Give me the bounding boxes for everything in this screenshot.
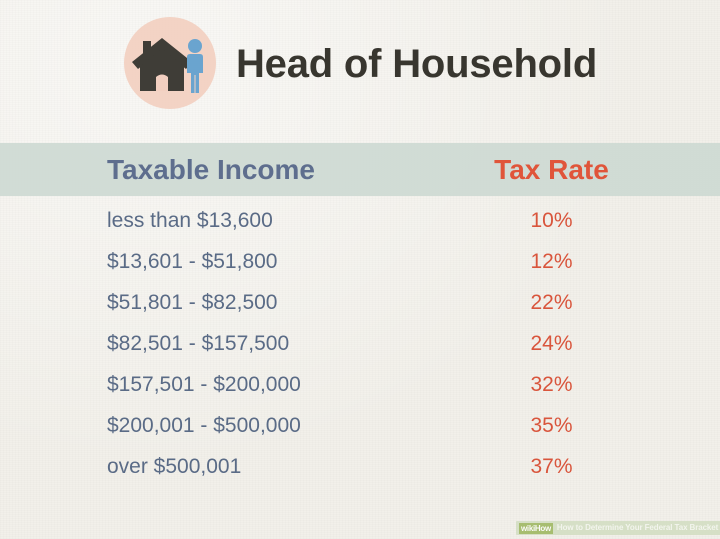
house-with-person-icon [124, 17, 216, 109]
cell-taxable-income: $200,001 - $500,000 [107, 405, 301, 446]
table-row: over $500,00137% [0, 446, 720, 487]
wikihow-article-title: How to Determine Your Federal Tax Bracke… [557, 523, 718, 533]
page-title: Head of Household [236, 39, 597, 89]
table-row: $157,501 - $200,00032% [0, 364, 720, 405]
table-row: $13,601 - $51,80012% [0, 241, 720, 282]
cell-taxable-income: $82,501 - $157,500 [107, 323, 289, 364]
cell-tax-rate: 10% [475, 200, 628, 241]
wikihow-watermark: wikiHow How to Determine Your Federal Ta… [516, 521, 720, 535]
cell-tax-rate: 37% [475, 446, 628, 487]
cell-taxable-income: $157,501 - $200,000 [107, 364, 301, 405]
table-row: $51,801 - $82,50022% [0, 282, 720, 323]
column-header-taxable-income: Taxable Income [107, 152, 315, 188]
cell-tax-rate: 32% [475, 364, 628, 405]
cell-taxable-income: $51,801 - $82,500 [107, 282, 277, 323]
cell-tax-rate: 35% [475, 405, 628, 446]
cell-tax-rate: 24% [475, 323, 628, 364]
infographic-canvas: Head of Household Taxable Income Tax Rat… [0, 0, 720, 539]
cell-taxable-income: $13,601 - $51,800 [107, 241, 277, 282]
table-row: $200,001 - $500,00035% [0, 405, 720, 446]
column-header-tax-rate: Tax Rate [475, 152, 628, 188]
header-section: Head of Household [0, 0, 720, 132]
cell-taxable-income: less than $13,600 [107, 200, 273, 241]
tax-bracket-table: less than $13,60010%$13,601 - $51,80012%… [0, 200, 720, 487]
table-row: $82,501 - $157,50024% [0, 323, 720, 364]
wikihow-logo: wikiHow [519, 523, 553, 534]
table-row: less than $13,60010% [0, 200, 720, 241]
cell-tax-rate: 12% [475, 241, 628, 282]
cell-tax-rate: 22% [475, 282, 628, 323]
cell-taxable-income: over $500,001 [107, 446, 241, 487]
